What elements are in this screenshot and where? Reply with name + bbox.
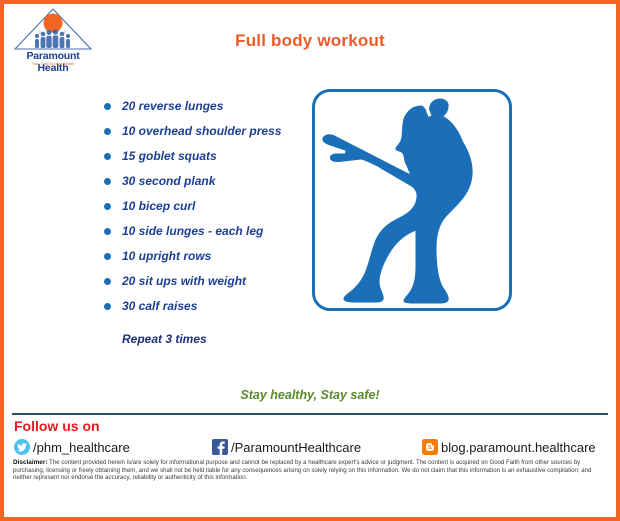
list-item: 15 goblet squats xyxy=(102,144,302,169)
footer-divider xyxy=(12,413,608,415)
exercise-list: 20 reverse lunges 10 overhead shoulder p… xyxy=(102,94,302,319)
social-link-twitter[interactable]: /phm_healthcare xyxy=(14,436,130,458)
squatting-woman-silhouette xyxy=(315,92,509,308)
list-item: 30 second plank xyxy=(102,169,302,194)
exercise-label: 10 bicep curl xyxy=(122,199,195,213)
exercise-label: 10 upright rows xyxy=(122,249,211,263)
follow-us-label: Follow us on xyxy=(14,418,100,434)
page-title: Full body workout xyxy=(4,31,616,51)
list-item: 20 sit ups with weight xyxy=(102,269,302,294)
logo-tagline: Your Time to peak health xyxy=(10,62,96,66)
facebook-icon xyxy=(212,439,228,455)
twitter-handle: /phm_healthcare xyxy=(33,440,130,455)
disclaimer-label: Disclaimer: xyxy=(13,459,47,466)
list-item: 20 reverse lunges xyxy=(102,94,302,119)
list-item: 10 side lunges - each leg xyxy=(102,219,302,244)
exercise-label: 20 sit ups with weight xyxy=(122,274,246,288)
list-item: 10 upright rows xyxy=(102,244,302,269)
exercise-label: 30 calf raises xyxy=(122,299,197,313)
disclaimer: Disclaimer: The content provided herein … xyxy=(13,459,609,482)
facebook-handle: /ParamountHealthcare xyxy=(231,440,361,455)
bullet-icon xyxy=(104,103,111,110)
blog-handle: blog.paramount.healthcare xyxy=(441,440,596,455)
exercise-label: 15 goblet squats xyxy=(122,149,217,163)
bullet-icon xyxy=(104,253,111,260)
exercise-label: 20 reverse lunges xyxy=(122,99,223,113)
twitter-icon xyxy=(14,439,30,455)
tagline: Stay healthy, Stay safe! xyxy=(4,388,616,402)
exercise-illustration-frame xyxy=(312,89,512,311)
bullet-icon xyxy=(104,303,111,310)
poster-page: Paramount Health Your Time to peak healt… xyxy=(0,0,620,521)
disclaimer-text: The content provided herein is/are solel… xyxy=(13,459,591,481)
social-links: /phm_healthcare /ParamountHealthcare blo… xyxy=(14,436,614,458)
header: Paramount Health Your Time to peak healt… xyxy=(4,4,616,76)
exercise-label: 10 side lunges - each leg xyxy=(122,224,263,238)
bullet-icon xyxy=(104,228,111,235)
main-content: 20 reverse lunges 10 overhead shoulder p… xyxy=(4,82,616,382)
list-item: 30 calf raises xyxy=(102,294,302,319)
social-link-blog[interactable]: blog.paramount.healthcare xyxy=(422,436,596,458)
bullet-icon xyxy=(104,153,111,160)
social-link-facebook[interactable]: /ParamountHealthcare xyxy=(212,436,361,458)
list-item: 10 overhead shoulder press xyxy=(102,119,302,144)
exercise-label: 10 overhead shoulder press xyxy=(122,124,281,138)
bullet-icon xyxy=(104,128,111,135)
bullet-icon xyxy=(104,278,111,285)
exercise-label: 30 second plank xyxy=(122,174,215,188)
bullet-icon xyxy=(104,203,111,210)
bullet-icon xyxy=(104,178,111,185)
repeat-note: Repeat 3 times xyxy=(122,332,207,346)
list-item: 10 bicep curl xyxy=(102,194,302,219)
blogger-icon xyxy=(422,439,438,455)
